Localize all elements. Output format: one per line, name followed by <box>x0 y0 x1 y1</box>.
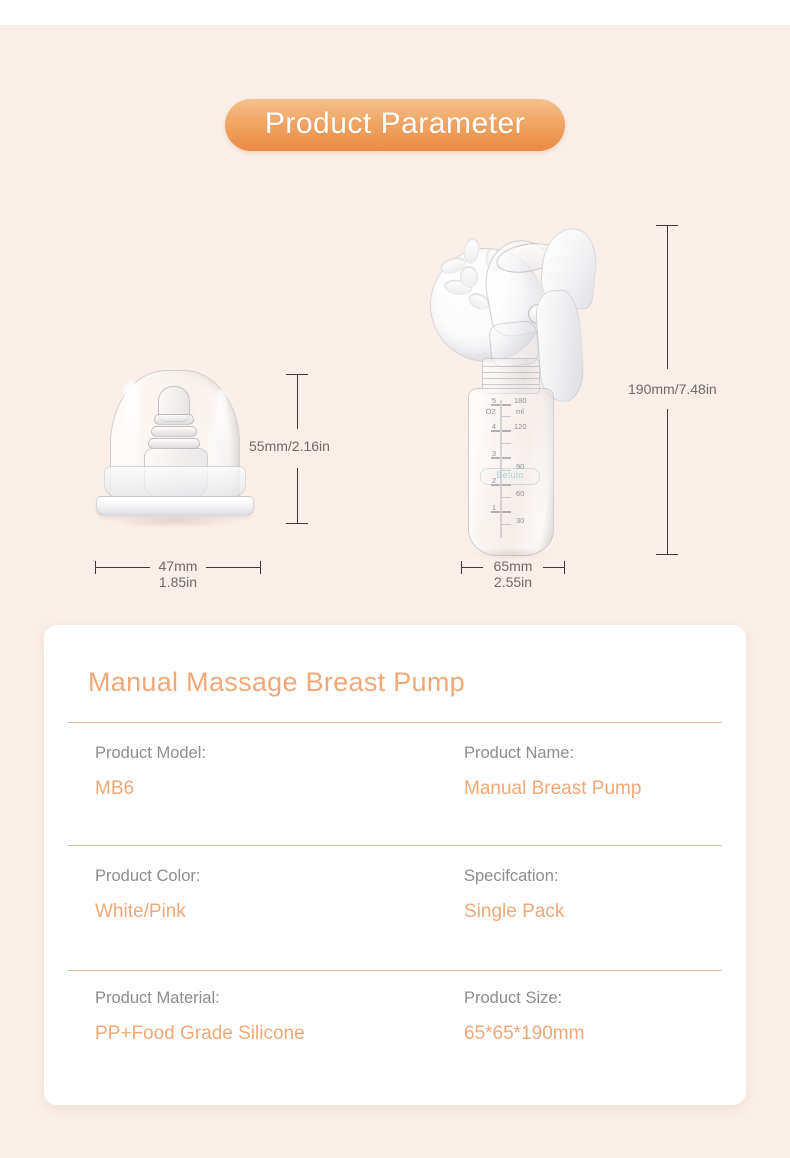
bottle-thread <box>483 372 539 373</box>
scale-label-ml: 30 <box>516 517 524 525</box>
spec-value: MB6 <box>95 777 206 801</box>
spec-label: Product Material: <box>95 988 305 1009</box>
spec-label: Product Name: <box>464 743 641 764</box>
spec-item-product-material: Product Material: PP+Food Grade Silicone <box>95 988 305 1045</box>
spec-value: Single Pack <box>464 900 564 924</box>
dim-line-upper <box>667 225 668 369</box>
bottle-thread <box>483 384 539 385</box>
spec-item-product-color: Product Color: White/Pink <box>95 866 200 923</box>
bottle-brand-logo: Belulo <box>480 468 540 485</box>
nipple-ridge <box>154 414 194 425</box>
nipple-cover-product-image <box>88 370 260 535</box>
scale-label-oz: 5 <box>482 397 496 405</box>
dim-line-upper <box>297 374 298 429</box>
specification-card: Manual Massage Breast Pump Product Model… <box>44 625 746 1105</box>
spec-label: Product Size: <box>464 988 584 1009</box>
scale-label-ml: 180 <box>514 397 527 405</box>
scale-tick <box>502 404 511 406</box>
dim-label-right-width-mm: 65mm <box>453 558 573 575</box>
dim-label-left-width-in: 1.85in <box>118 574 238 591</box>
dim-cap-bottom <box>286 523 308 524</box>
scale-tick <box>502 497 511 498</box>
scale-tick <box>502 430 511 432</box>
scale-label-oz-unit: OZ <box>478 408 496 416</box>
breast-pump-product-image: 5 OZ 4 3 2 1 180 ml 120 90 60 30 Belulo <box>424 218 640 558</box>
spec-label: Product Model: <box>95 743 206 764</box>
scale-label-oz: 1 <box>482 504 496 512</box>
nipple-ridge <box>151 426 197 437</box>
scale-label-ml: 120 <box>514 423 527 431</box>
dim-line-lower <box>667 409 668 555</box>
spec-row: Product Color: White/Pink Specifcation: … <box>44 866 746 986</box>
scale-tick <box>502 524 511 525</box>
spec-value: 65*65*190mm <box>464 1022 584 1046</box>
spec-item-specification: Specifcation: Single Pack <box>464 866 564 923</box>
spec-item-product-name: Product Name: Manual Breast Pump <box>464 743 641 800</box>
spec-item-product-model: Product Model: MB6 <box>95 743 206 800</box>
product-shadow <box>102 514 246 528</box>
card-divider <box>68 722 722 723</box>
dim-label-left-width-mm: 47mm <box>118 558 238 575</box>
scale-label-oz: 3 <box>482 450 496 458</box>
card-title: Manual Massage Breast Pump <box>88 667 465 698</box>
scale-tick <box>502 443 511 444</box>
scale-label-ml: 60 <box>516 490 524 498</box>
dim-label-left-height: 55mm/2.16in <box>249 438 330 455</box>
banner-title: Product Parameter <box>265 108 525 140</box>
banner-container: Product Parameter <box>0 99 790 151</box>
scale-label-oz: 4 <box>482 423 496 431</box>
scale-label-ml-unit: ml <box>516 408 524 416</box>
spec-item-product-size: Product Size: 65*65*190mm <box>464 988 584 1045</box>
title-banner: Product Parameter <box>225 99 565 151</box>
spec-value: White/Pink <box>95 900 200 924</box>
spec-label: Specifcation: <box>464 866 564 887</box>
scale-tick <box>502 457 511 459</box>
dim-label-right-height: 190mm/7.48in <box>628 381 717 398</box>
spec-value: PP+Food Grade Silicone <box>95 1022 305 1046</box>
dim-label-right-width-in: 2.55in <box>453 574 573 591</box>
scale-tick <box>502 511 511 513</box>
spec-row: Product Model: MB6 Product Name: Manual … <box>44 743 746 863</box>
bottle-thread <box>483 378 539 379</box>
spec-value: Manual Breast Pump <box>464 777 641 801</box>
product-stage: 5 OZ 4 3 2 1 180 ml 120 90 60 30 Belulo <box>0 190 790 610</box>
pump-handle <box>536 228 598 404</box>
product-parameter-page: Product Parameter <box>0 0 790 1158</box>
bottle-thread <box>483 366 539 367</box>
spec-row: Product Material: PP+Food Grade Silicone… <box>44 988 746 1108</box>
dim-line-lower <box>297 468 298 524</box>
scale-tick <box>502 416 511 417</box>
dim-cap-bottom <box>656 554 678 555</box>
spec-label: Product Color: <box>95 866 200 887</box>
nipple-collar <box>104 466 246 498</box>
dim-cap-right <box>260 561 261 574</box>
cover-base-ring <box>96 496 254 516</box>
